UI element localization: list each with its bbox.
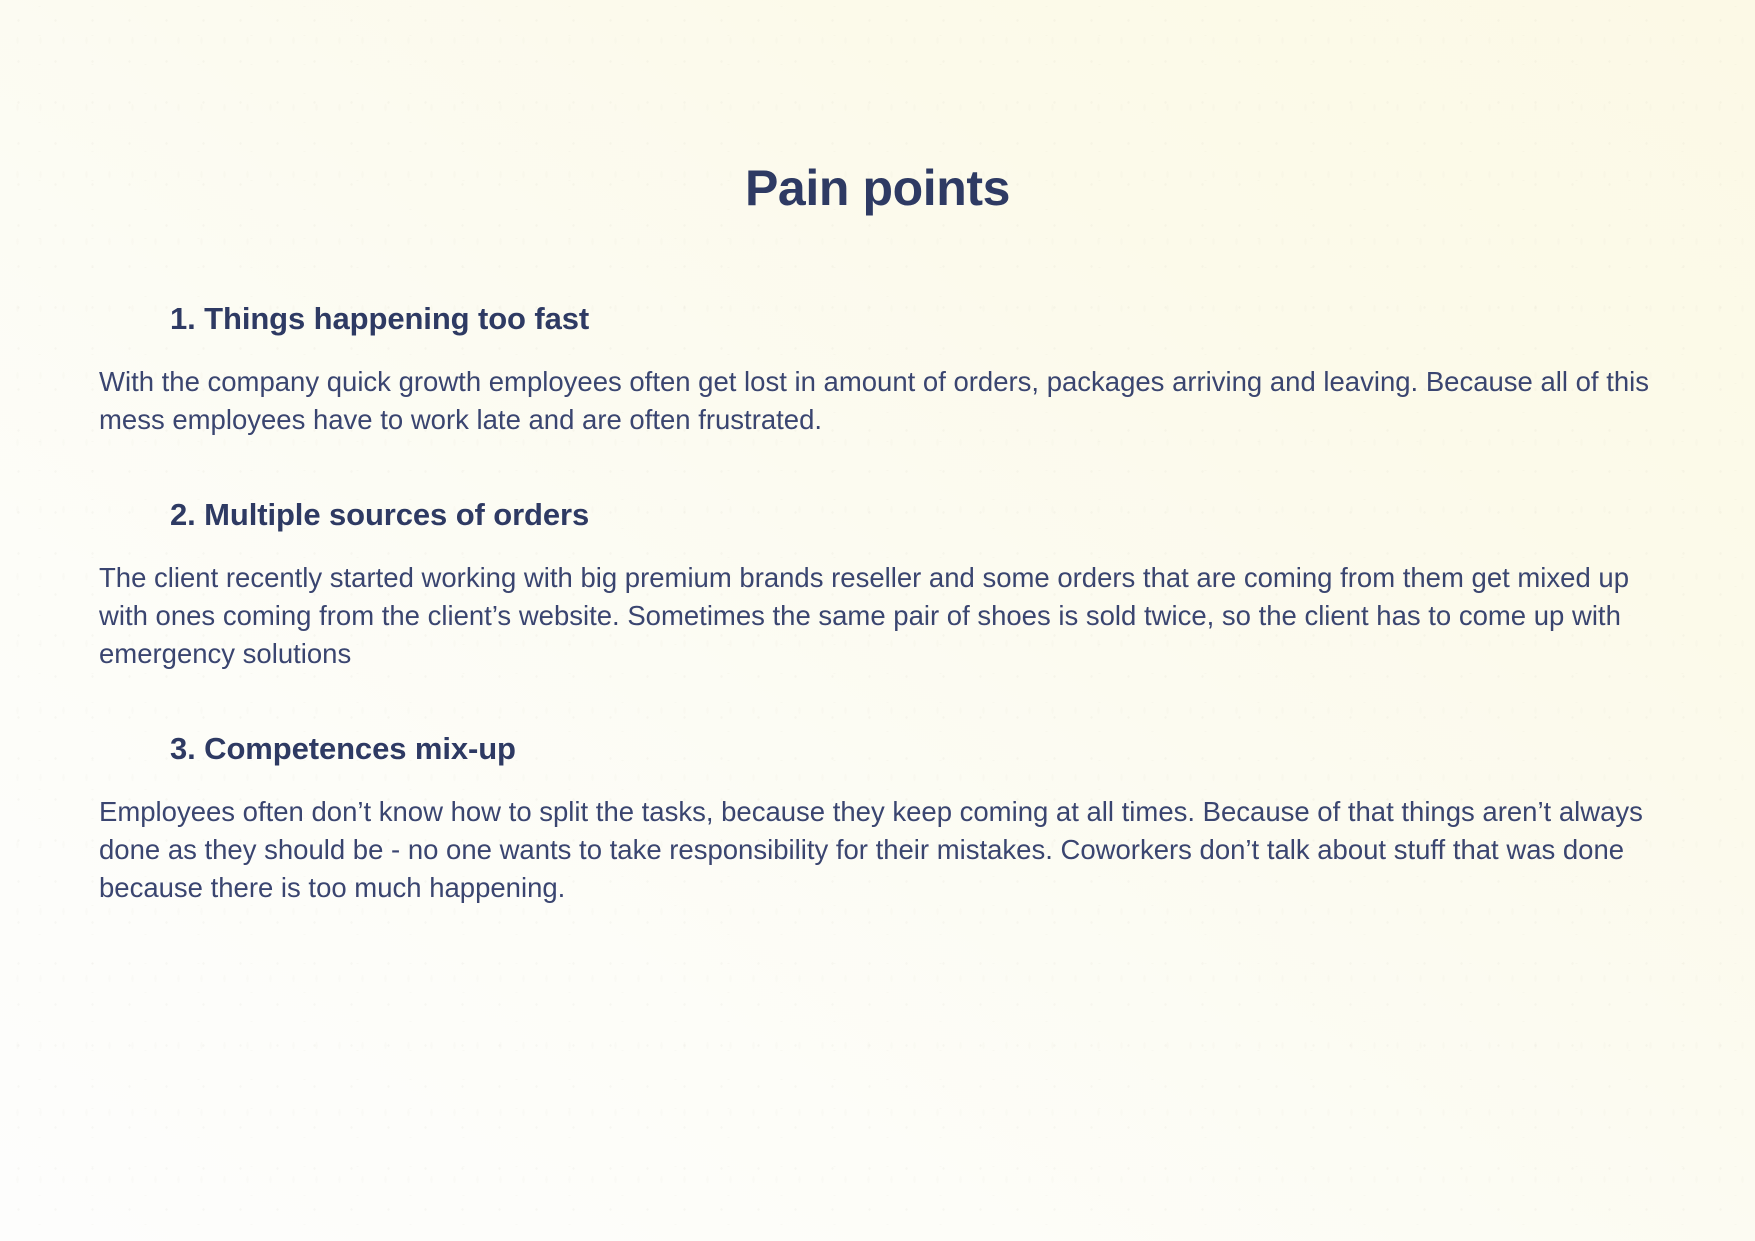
pain-point-body-2: The client recently started working with…	[99, 559, 1669, 673]
pain-point-body-1: With the company quick growth employees …	[99, 363, 1669, 439]
pain-point-section: 3. Competences mix-up Employees often do…	[99, 730, 1669, 907]
pain-point-body-3: Employees often don’t know how to split …	[99, 793, 1669, 907]
pain-point-heading-3: 3. Competences mix-up	[170, 730, 1669, 767]
pain-point-heading-2: 2. Multiple sources of orders	[170, 496, 1669, 533]
pain-point-section: 2. Multiple sources of orders The client…	[99, 496, 1669, 673]
pain-point-section: 1. Things happening too fast With the co…	[99, 300, 1669, 439]
pain-point-heading-1: 1. Things happening too fast	[170, 300, 1669, 337]
pain-points-list: 1. Things happening too fast With the co…	[99, 300, 1669, 907]
slide-content: Pain points 1. Things happening too fast…	[0, 0, 1755, 1241]
slide-canvas: Pain points 1. Things happening too fast…	[0, 0, 1755, 1241]
page-title: Pain points	[0, 159, 1755, 217]
